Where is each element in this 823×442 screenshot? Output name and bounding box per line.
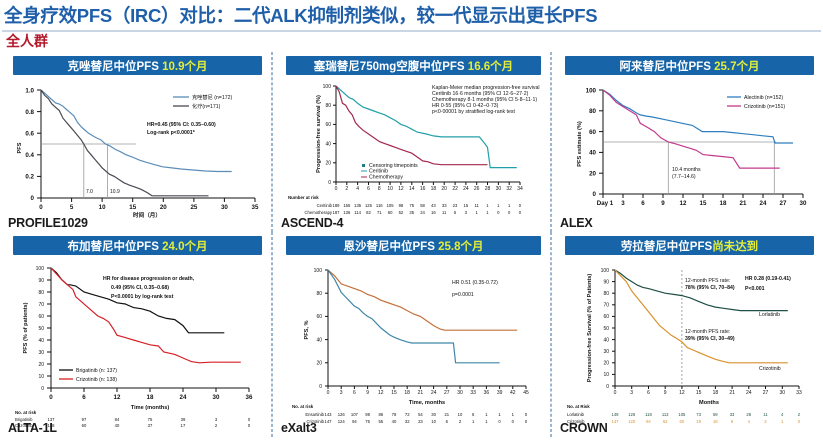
svg-text:36: 36 [484,390,490,396]
panel-footer-ascend4: ASCEND-4 [281,216,343,230]
svg-text:21: 21 [740,200,747,207]
risk-cell: 105 [387,203,395,208]
svg-text:40: 40 [316,337,322,343]
panel-header-value: 尚未达到 [712,241,758,253]
svg-text:0: 0 [328,180,331,186]
svg-text:10: 10 [603,372,609,378]
svg-text:60: 60 [589,129,596,136]
svg-text:10: 10 [38,374,44,380]
svg-text:30: 30 [221,204,228,211]
annotation-pvalue: P<0.001 [745,286,765,292]
svg-text:0: 0 [606,384,609,390]
panel-footer-crown: CROWN [560,421,608,435]
risk-cell: 1 [781,419,784,424]
risk-cell: 75 [409,203,414,208]
panel-footer-profile1029: PROFILE1029 [8,216,88,230]
risk-cell: 0 [508,210,511,215]
risk-cell: 54 [418,412,423,417]
risk-cell: 1 [486,210,489,215]
risk-cell: 40 [392,419,397,424]
risk-cell: 97 [82,417,87,422]
svg-text:0.4: 0.4 [25,152,34,159]
risk-cell: 58 [420,203,425,208]
svg-text:27: 27 [780,200,787,207]
annotation-pfs12-crizotinib-label: 12-month PFS rate: [685,329,730,335]
chart-svg-crown: 0 10 20 30 40 50 60 70 80 90 100 [559,258,821,428]
svg-text:0.6: 0.6 [25,130,34,137]
risk-cell: 60 [82,423,87,428]
legend-ascend4: Censoring timepoints Ceritinib Chemother… [361,163,418,181]
svg-text:80: 80 [589,108,596,115]
risk-cell: 11 [474,203,479,208]
y-axis-label: Progression-free survival (%) [316,95,322,173]
legend-alex: Alectinib (n=152) Crizotinib (n=151) [727,95,785,110]
panel-crown: 劳拉替尼中位PFS尚未达到 0 10 20 30 40 50 [551,232,823,437]
risk-cell: 143 [325,412,333,417]
risk-cell: 0 [519,210,522,215]
panel-grid: 克唑替尼中位PFS 10.9个月 0 0.2 0.4 0.6 0.8 1 [0,52,823,442]
risk-cell: 155 [343,203,351,208]
svg-text:30: 30 [800,200,807,207]
risk-cell: 82 [366,210,371,215]
panel-header-prefix: 恩沙替尼中位PFS [344,241,439,253]
panel-header-value: 10.9个月 [162,61,207,73]
svg-text:40: 40 [325,141,331,147]
risk-cell: 1 [475,210,478,215]
risk-cell: 23 [418,419,423,424]
svg-text:25: 25 [190,204,197,211]
risk-cell: 0 [798,419,801,424]
svg-text:0: 0 [319,384,322,390]
svg-text:0: 0 [614,390,617,396]
panel-header-alta1l: 布加替尼中位PFS 24.0个月 [13,236,262,255]
legend-item-1: Crizotinib (n: 138) [76,377,117,383]
svg-text:100: 100 [586,88,597,95]
annotation-median-ci: (7.7–14.6) [672,174,696,180]
legend-alta1l: Brigatinib (n: 137) Crizotinib (n: 138) [59,368,117,383]
panel-footer-alta1l: ALTA-1L [8,421,57,435]
y-axis-label: PFS, % [304,320,310,339]
risk-cell: 21 [444,412,449,417]
svg-text:80: 80 [603,291,609,297]
y-axis-label: PFS (% of patients) [23,302,29,353]
x-axis-label: 时间（月） [133,211,161,218]
svg-text:15: 15 [700,200,707,207]
svg-text:15: 15 [696,390,702,396]
chart-svg-profile1029: 0 0.2 0.4 0.6 0.8 1.0 0 5 10 15 [7,78,269,218]
chart-alta1l: 0 10 20 30 40 50 60 70 80 90 100 [7,258,264,428]
svg-text:1.0: 1.0 [25,88,34,95]
series-label-crizotinib: Crizotinib [759,366,781,372]
risk-cell: 107 [351,412,359,417]
risk-cell: 2 [459,419,462,424]
svg-text:24: 24 [760,200,767,207]
svg-text:5: 5 [70,204,74,211]
panel-header-exalt3: 恩沙替尼中位PFS 25.8个月 [286,236,541,255]
svg-text:10: 10 [99,204,106,211]
panel-header-value: 24.0个月 [162,241,207,253]
risk-cell: 1 [485,412,488,417]
risk-row-label-0: Lorlatinib [567,412,585,417]
svg-text:60: 60 [603,314,609,320]
x-axis-label: Time (months) [131,405,170,411]
annotation-median: 10.4 months [672,167,701,173]
risk-cell: 113 [662,412,669,417]
risk-cell: 3 [465,210,468,215]
risk-cell: 98 [365,412,370,417]
chart-ascend4: 0 20 40 60 80 100 0 2 [280,78,543,226]
panel-header-value: 16.6个月 [468,61,513,73]
svg-text:20: 20 [316,361,322,367]
risk-cell: 147 [325,419,333,424]
chart-svg-alta1l: 0 10 20 30 40 50 60 70 80 90 100 [7,258,269,428]
svg-text:2: 2 [345,186,348,192]
panel-header-value: 25.8个月 [438,241,483,253]
risk-cell: 10 [431,419,436,424]
risk-table-header: No. at risk [15,410,37,415]
svg-text:33: 33 [796,390,802,396]
panel-header-prefix: 阿来替尼中位PFS [620,61,715,73]
annotation-pfs12-lorlatinib-label: 12-month PFS rate: [685,278,730,284]
svg-text:0: 0 [39,204,43,211]
svg-text:100: 100 [323,84,332,90]
panel-header-prefix: 塞瑞替尼750mg空腹中位PFS [314,61,468,73]
risk-cell: 1 [498,412,501,417]
median-label-crizotinib: 10.9 [110,189,120,195]
svg-text:30: 30 [38,350,44,356]
risk-cell: 126 [338,412,346,417]
svg-text:27: 27 [444,390,450,396]
risk-cell: 2 [215,423,218,428]
risk-cell: 1 [508,203,511,208]
panel-header-crown: 劳拉替尼中位PFS尚未达到 [565,236,814,255]
svg-text:0: 0 [41,386,44,392]
panel-header-profile1029: 克唑替尼中位PFS 10.9个月 [13,56,262,75]
svg-text:18: 18 [720,200,727,207]
svg-text:0: 0 [327,390,330,396]
chart-svg-alex: 0 20 40 60 80 100 Day 1 3 6 9 [559,78,821,218]
annotation-pfs12-lorlatinib-value: 78% (95% CI, 70–84) [685,285,735,291]
risk-cell: 0 [512,419,515,424]
legend-item-1: 化疗(n=171) [192,102,221,110]
panel-alta1l: 布加替尼中位PFS 24.0个月 0 10 20 30 40 5 [0,232,272,437]
legend-item-0: Alectinib (n=152) [744,95,783,101]
svg-text:18: 18 [147,394,154,401]
svg-text:30: 30 [603,349,609,355]
risk-cell: 23 [453,203,458,208]
svg-text:28: 28 [485,186,491,192]
svg-text:12: 12 [114,394,121,401]
risk-cell: 39 [181,417,186,422]
risk-cell: 73 [696,412,701,417]
annotation-logrank: Log-rank p<0.0001* [147,130,196,136]
svg-text:0.8: 0.8 [25,109,34,116]
svg-text:100: 100 [314,268,323,274]
x-axis-label: Months [699,400,719,406]
svg-text:24: 24 [180,394,187,401]
svg-text:20: 20 [603,361,609,367]
risk-cell: 118 [645,412,652,417]
risk-cell: 72 [405,412,410,417]
svg-text:6: 6 [641,200,645,207]
risk-cell: 52 [399,210,404,215]
risk-cell: 125 [365,203,373,208]
panel-header-prefix: 克唑替尼中位PFS [68,61,163,73]
risk-row-label-0: Ensartinib [305,412,324,417]
chart-svg-exalt3: 0 20 40 60 80 100 0 3 [280,258,549,428]
panel-header-value: 25.7个月 [714,61,759,73]
svg-text:0: 0 [49,394,53,401]
risk-cell: 1 [497,203,500,208]
risk-cell: 187 [333,210,341,215]
y-axis-label: Progression-free Survival (% of Patients… [587,274,593,383]
risk-cell: 0 [248,423,251,428]
chart-crown: 0 10 20 30 40 50 60 70 80 90 100 [559,258,816,428]
risk-cell: 105 [678,412,686,417]
svg-text:14: 14 [409,186,415,192]
risk-cell: 60 [680,419,685,424]
panel-header-prefix: 劳拉替尼中位PFS [621,241,712,253]
svg-text:0.2: 0.2 [25,174,34,181]
slide-root: 全身疗效PFS（IRC）对比：二代ALK抑制剂类似，较一代显示出更长PFS 全人… [0,0,823,442]
annotation-0: HR for disease progression or death, [103,276,195,282]
svg-text:90: 90 [38,278,44,284]
risk-cell: 0 [519,203,522,208]
svg-text:8: 8 [378,186,381,192]
risk-cell: 1 [485,419,488,424]
risk-cell: 78 [392,412,397,417]
svg-text:0: 0 [593,191,597,198]
svg-text:20: 20 [160,204,167,211]
svg-text:100: 100 [36,266,45,272]
svg-text:60: 60 [325,122,331,128]
risk-table-header: No. at Risk [567,404,590,409]
svg-text:18: 18 [404,390,410,396]
subtitle: 全人群 [0,32,823,52]
median-label-chemo: 7.0 [86,189,93,195]
svg-text:9: 9 [366,390,369,396]
svg-text:50: 50 [38,326,44,332]
svg-text:70: 70 [603,303,609,309]
legend-profile1029: 克唑替尼 (n=172) 化疗(n=171) [173,93,232,110]
svg-text:60: 60 [316,314,322,320]
annotation-1: 0.49 (95% CI, 0.35–0.68) [111,285,169,291]
svg-text:Day 1: Day 1 [597,200,614,207]
panel-header-alex: 阿来替尼中位PFS 25.7个月 [565,56,814,75]
svg-text:33: 33 [470,390,476,396]
risk-cell: 6 [472,412,475,417]
risk-cell: 11 [763,412,768,417]
panel-alex: 阿来替尼中位PFS 25.7个月 0 20 40 60 80 100 [551,52,823,232]
chart-profile1029: 0 0.2 0.4 0.6 0.8 1.0 0 5 10 15 [7,78,264,218]
risk-cell: 189 [333,203,341,208]
risk-cell: 116 [376,203,383,208]
svg-text:9: 9 [664,390,667,396]
svg-text:9: 9 [661,200,665,207]
risk-cell: 2 [764,419,767,424]
annotation-2: P<0.0001 by log-rank test [111,294,174,300]
risk-cell: 0 [497,210,500,215]
risk-cell: 33 [442,203,447,208]
risk-cell: 86 [378,412,383,417]
risk-table-header: No. at risk [292,404,314,409]
risk-cell: 32 [405,419,410,424]
risk-cell: 75 [148,417,153,422]
svg-text:30: 30 [496,186,502,192]
risk-cell: 40 [115,423,120,428]
annotation-1: p=0.0001 [452,292,474,298]
risk-cell: 62 [663,419,668,424]
risk-cell: 124 [338,419,346,424]
risk-cell: 120 [628,419,636,424]
svg-text:4: 4 [356,186,359,192]
svg-text:80: 80 [38,290,44,296]
annotation-hr: HR 0.28 (0.19-0.41) [745,276,791,282]
svg-text:6: 6 [647,390,650,396]
chart-exalt3: 0 20 40 60 80 100 0 3 [280,258,543,428]
y-axis-label: PFS estimate (%) [577,121,583,167]
risk-cell: 136 [343,210,351,215]
svg-text:26: 26 [474,186,480,192]
risk-cell: 15 [464,203,469,208]
chart-alex: 0 20 40 60 80 100 Day 1 3 6 9 [559,78,816,218]
risk-cell: 55 [378,419,383,424]
risk-cell: 35 [409,210,414,215]
svg-text:34: 34 [517,186,523,192]
svg-text:12: 12 [680,200,687,207]
risk-cell: 5 [454,210,457,215]
svg-text:3: 3 [630,390,633,396]
svg-text:80: 80 [325,103,331,109]
svg-text:24: 24 [431,390,437,396]
svg-text:20: 20 [325,161,331,167]
panel-profile1029: 克唑替尼中位PFS 10.9个月 0 0.2 0.4 0.6 0.8 1 [0,52,272,232]
panel-header-ascend4: 塞瑞替尼750mg空腹中位PFS 16.6个月 [286,56,541,75]
risk-cell: 3 [215,417,218,422]
annotation-4: p<0·00001 by stratified log-rank test [432,109,515,115]
legend-item-2: Chemotherapy [369,175,403,181]
svg-text:36: 36 [246,394,253,401]
svg-text:18: 18 [713,390,719,396]
svg-text:6: 6 [82,394,86,401]
risk-cell: 60 [388,210,393,215]
risk-cell: 28 [746,412,751,417]
svg-text:6: 6 [367,186,370,192]
svg-text:21: 21 [418,390,424,396]
risk-cell: 135 [354,203,362,208]
risk-cell: 98 [399,203,404,208]
svg-text:12: 12 [398,186,404,192]
y-axis-label: PFS [17,142,23,153]
svg-text:50: 50 [603,326,609,332]
risk-cell: 4 [748,419,751,424]
risk-cell: 10 [458,412,463,417]
svg-text:0: 0 [335,186,338,192]
svg-text:24: 24 [746,390,752,396]
svg-text:21: 21 [729,390,735,396]
legend-item-0: 克唑替尼 (n=172) [192,93,232,101]
risk-cell: 6 [446,419,449,424]
risk-cell: 147 [612,419,620,424]
risk-cell: 30 [431,412,436,417]
svg-text:30: 30 [457,390,463,396]
risk-cell: 6 [731,419,734,424]
panel-header-prefix: 布加替尼中位PFS [68,241,163,253]
svg-text:16: 16 [420,186,426,192]
svg-text:45: 45 [523,390,529,396]
risk-cell: 17 [181,423,186,428]
title-bar: 全身疗效PFS（IRC）对比：二代ALK抑制剂类似，较一代显示出更长PFS [0,0,823,30]
svg-text:90: 90 [603,279,609,285]
svg-text:30: 30 [780,390,786,396]
svg-text:40: 40 [589,150,596,157]
risk-table-header: Number at risk [288,195,319,200]
annotation-0: HR 0.51 (0.35-0.72) [452,280,498,286]
risk-cell: 33 [730,412,735,417]
page-title: 全身疗效PFS（IRC）对比：二代ALK抑制剂类似，较一代显示出更长PFS [4,2,819,30]
svg-text:15: 15 [129,204,136,211]
risk-cell: 1 [512,412,515,417]
svg-text:15: 15 [391,390,397,396]
svg-text:30: 30 [213,394,220,401]
svg-text:27: 27 [763,390,769,396]
risk-cell: 2 [798,412,801,417]
risk-cell: 126 [628,412,636,417]
annotation-pfs12-crizotinib-value: 39% (95% CI, 30–49) [685,336,735,342]
risk-cell: 43 [431,203,436,208]
risk-cell: 75 [365,419,370,424]
risk-cell: 94 [352,419,357,424]
svg-text:20: 20 [441,186,447,192]
risk-cell: 71 [377,210,382,215]
svg-text:0: 0 [31,195,35,202]
risk-cell: 19 [696,419,701,424]
svg-text:12: 12 [378,390,384,396]
svg-text:42: 42 [510,390,516,396]
risk-cell: 16 [431,210,436,215]
svg-text:32: 32 [506,186,512,192]
svg-text:35: 35 [252,204,259,211]
risk-cell: 18 [713,419,718,424]
risk-cell: 0 [525,419,528,424]
svg-text:20: 20 [589,170,596,177]
legend-item-1: Crizotinib (n=151) [744,104,785,110]
svg-text:12: 12 [679,390,685,396]
risk-cell: 1 [472,419,475,424]
svg-text:22: 22 [452,186,458,192]
series-label-lorlatinib: Lorlatinib [759,312,780,318]
svg-text:24: 24 [463,186,469,192]
x-axis-label: Time, months [409,400,445,406]
risk-row-label-1: Chemotherapy [305,210,333,215]
risk-cell: 4 [781,412,784,417]
svg-text:40: 40 [603,337,609,343]
risk-row-label-0: Ceritinib [317,203,333,208]
svg-text:40: 40 [38,338,44,344]
annotation-hr: HR=0.45 (95% CI: 0.35–0.60) [147,122,216,128]
risk-cell: 37 [148,423,153,428]
chart-svg-ascend4: 0 20 40 60 80 100 0 2 [280,78,549,226]
panel-footer-alex: ALEX [560,216,593,230]
legend-item-0: Brigatinib (n: 137) [76,368,117,374]
risk-cell: 11 [442,210,447,215]
risk-cell: 1 [486,203,489,208]
svg-text:39: 39 [497,390,503,396]
risk-cell: 0 [525,412,528,417]
panel-exalt3: 恩沙替尼中位PFS 25.8个月 0 20 40 60 80 100 [272,232,551,437]
risk-cell: 94 [646,419,651,424]
risk-cell: 0 [248,417,251,422]
